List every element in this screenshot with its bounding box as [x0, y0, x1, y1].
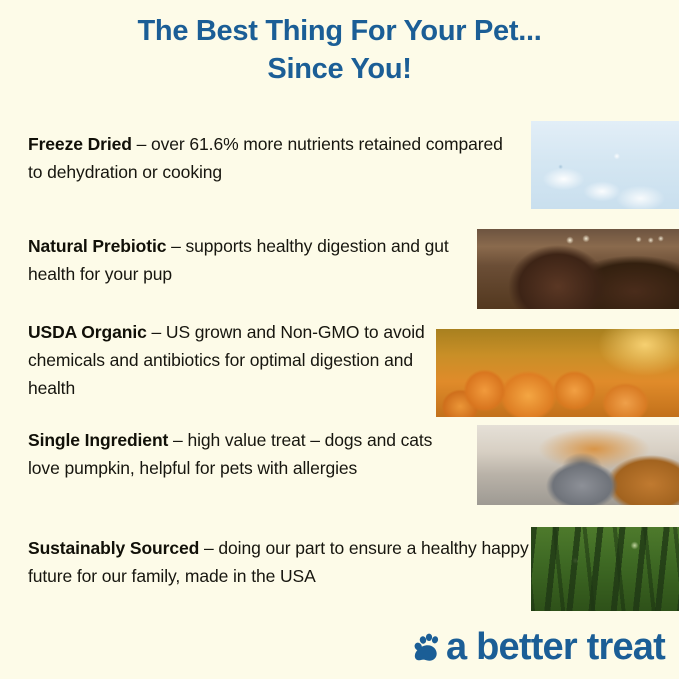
page-title-line-2: Since You! [0, 50, 679, 88]
infographic-page: The Best Thing For Your Pet... Since You… [0, 0, 679, 679]
green-forest-photo-image [531, 527, 679, 611]
benefit-text: USDA Organic – US grown and Non-GMO to a… [28, 318, 440, 402]
benefit-separator: – [166, 236, 185, 256]
benefit-item-natural-prebiotic: Natural Prebiotic – supports healthy dig… [28, 232, 468, 288]
frost-crystals-photo [531, 121, 679, 209]
pumpkins-photo-image [436, 329, 679, 417]
page-title: The Best Thing For Your Pet... Since You… [0, 12, 679, 88]
benefit-lead: USDA Organic [28, 322, 147, 342]
benefit-separator: – [199, 538, 218, 558]
benefit-item-single-ingredient: Single Ingredient – high value treat – d… [28, 426, 468, 482]
benefit-separator: – [147, 322, 166, 342]
pumpkins-photo [436, 329, 679, 417]
benefit-lead: Sustainably Sourced [28, 538, 199, 558]
benefit-lead: Natural Prebiotic [28, 236, 166, 256]
benefit-item-freeze-dried: Freeze Dried – over 61.6% more nutrients… [28, 130, 506, 186]
benefit-separator: – [168, 430, 187, 450]
brand-logo: a better treat [414, 627, 665, 667]
page-title-line-1: The Best Thing For Your Pet... [0, 12, 679, 50]
benefit-text: Freeze Dried – over 61.6% more nutrients… [28, 130, 506, 186]
chocolate-lab-photo [477, 229, 679, 309]
benefit-lead: Single Ingredient [28, 430, 168, 450]
benefit-lead: Freeze Dried [28, 134, 132, 154]
chocolate-lab-photo-image [477, 229, 679, 309]
cat-and-dog-photo [477, 425, 679, 505]
benefit-text: Natural Prebiotic – supports healthy dig… [28, 232, 468, 288]
benefit-separator: – [132, 134, 151, 154]
benefit-text: Single Ingredient – high value treat – d… [28, 426, 468, 482]
benefit-text: Sustainably Sourced – doing our part to … [28, 534, 543, 590]
frost-crystals-photo-image [531, 121, 679, 209]
benefit-item-usda-organic: USDA Organic – US grown and Non-GMO to a… [28, 318, 440, 402]
brand-wordmark: a better treat [446, 627, 665, 667]
cat-and-dog-photo-image [477, 425, 679, 505]
benefit-item-sustainably-sourced: Sustainably Sourced – doing our part to … [28, 534, 543, 590]
green-forest-photo [531, 527, 679, 611]
paw-print-icon [414, 632, 440, 662]
